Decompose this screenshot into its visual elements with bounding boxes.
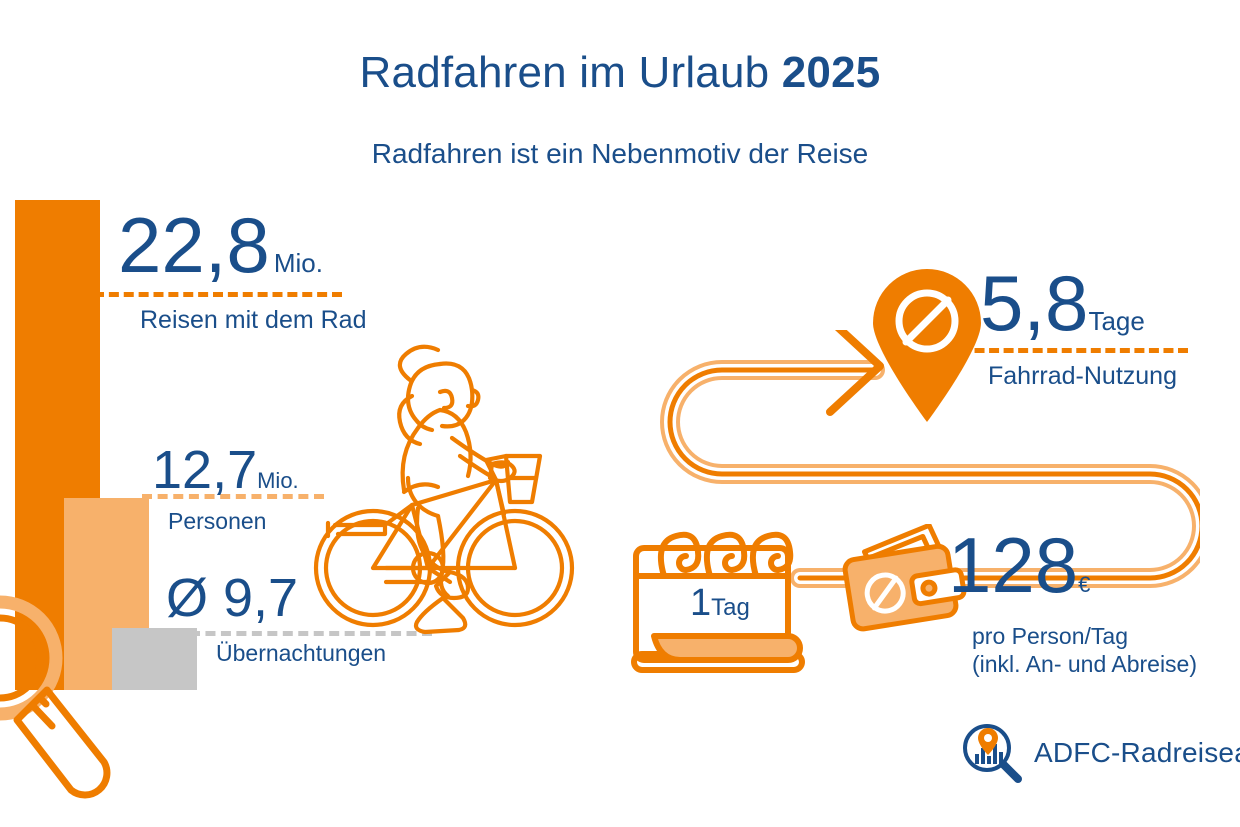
stat-number-personen: 12,7 [152,440,257,500]
stat-value-tage: 5,8Tage [980,272,1145,336]
divider-reisen [94,292,342,297]
stat-value-preis: 128€ [948,534,1090,598]
map-pin-icon [868,268,986,424]
stat-caption-preis: pro Person/Tag (inkl. An- und Abreise) [972,622,1197,678]
infographic-canvas: Radfahren im Urlaub 2025 Radfahren ist e… [0,0,1240,827]
adfc-logo-text: ADFC-Radreiseanalyse [1034,737,1240,769]
stat-unit-preis: € [1078,572,1090,597]
magnifier-decor-icon [0,586,138,816]
calendar-number: 1 [690,582,711,624]
stat-caption-preis-line2: (inkl. An- und Abreise) [972,650,1197,678]
stat-value-personen: 12,7Mio. [152,448,299,492]
stat-caption-preis-line1: pro Person/Tag [972,622,1197,650]
adfc-logo[interactable]: ADFC-Radreiseanalyse [960,722,1240,784]
page-title-main: Radfahren im Urlaub [360,48,782,97]
stat-unit-tage: Tage [1088,306,1144,336]
stat-number-preis: 128 [948,521,1078,609]
stat-number-tage: 5,8 [980,259,1088,347]
stat-caption-personen: Personen [168,508,266,535]
stat-caption-tage: Fahrrad-Nutzung [988,362,1177,391]
page-title: Radfahren im Urlaub 2025 [0,48,1240,98]
page-subtitle: Radfahren ist ein Nebenmotiv der Reise [0,138,1240,170]
stat-value-reisen: 22,8Mio. [118,214,323,278]
stat-number-reisen: 22,8 [118,201,270,289]
stat-value-uebernachtungen: Ø 9,7 [166,576,298,620]
page-title-year: 2025 [782,48,881,97]
magnifier-chart-logo-icon [960,722,1024,784]
stat-number-uebernachtungen: Ø 9,7 [166,568,298,628]
stat-unit-personen: Mio. [257,468,299,493]
stat-unit-reisen: Mio. [274,248,323,278]
calendar-unit: Tag [711,594,750,621]
cyclist-illustration-icon [300,330,590,650]
calendar-label: 1Tag [690,582,750,625]
